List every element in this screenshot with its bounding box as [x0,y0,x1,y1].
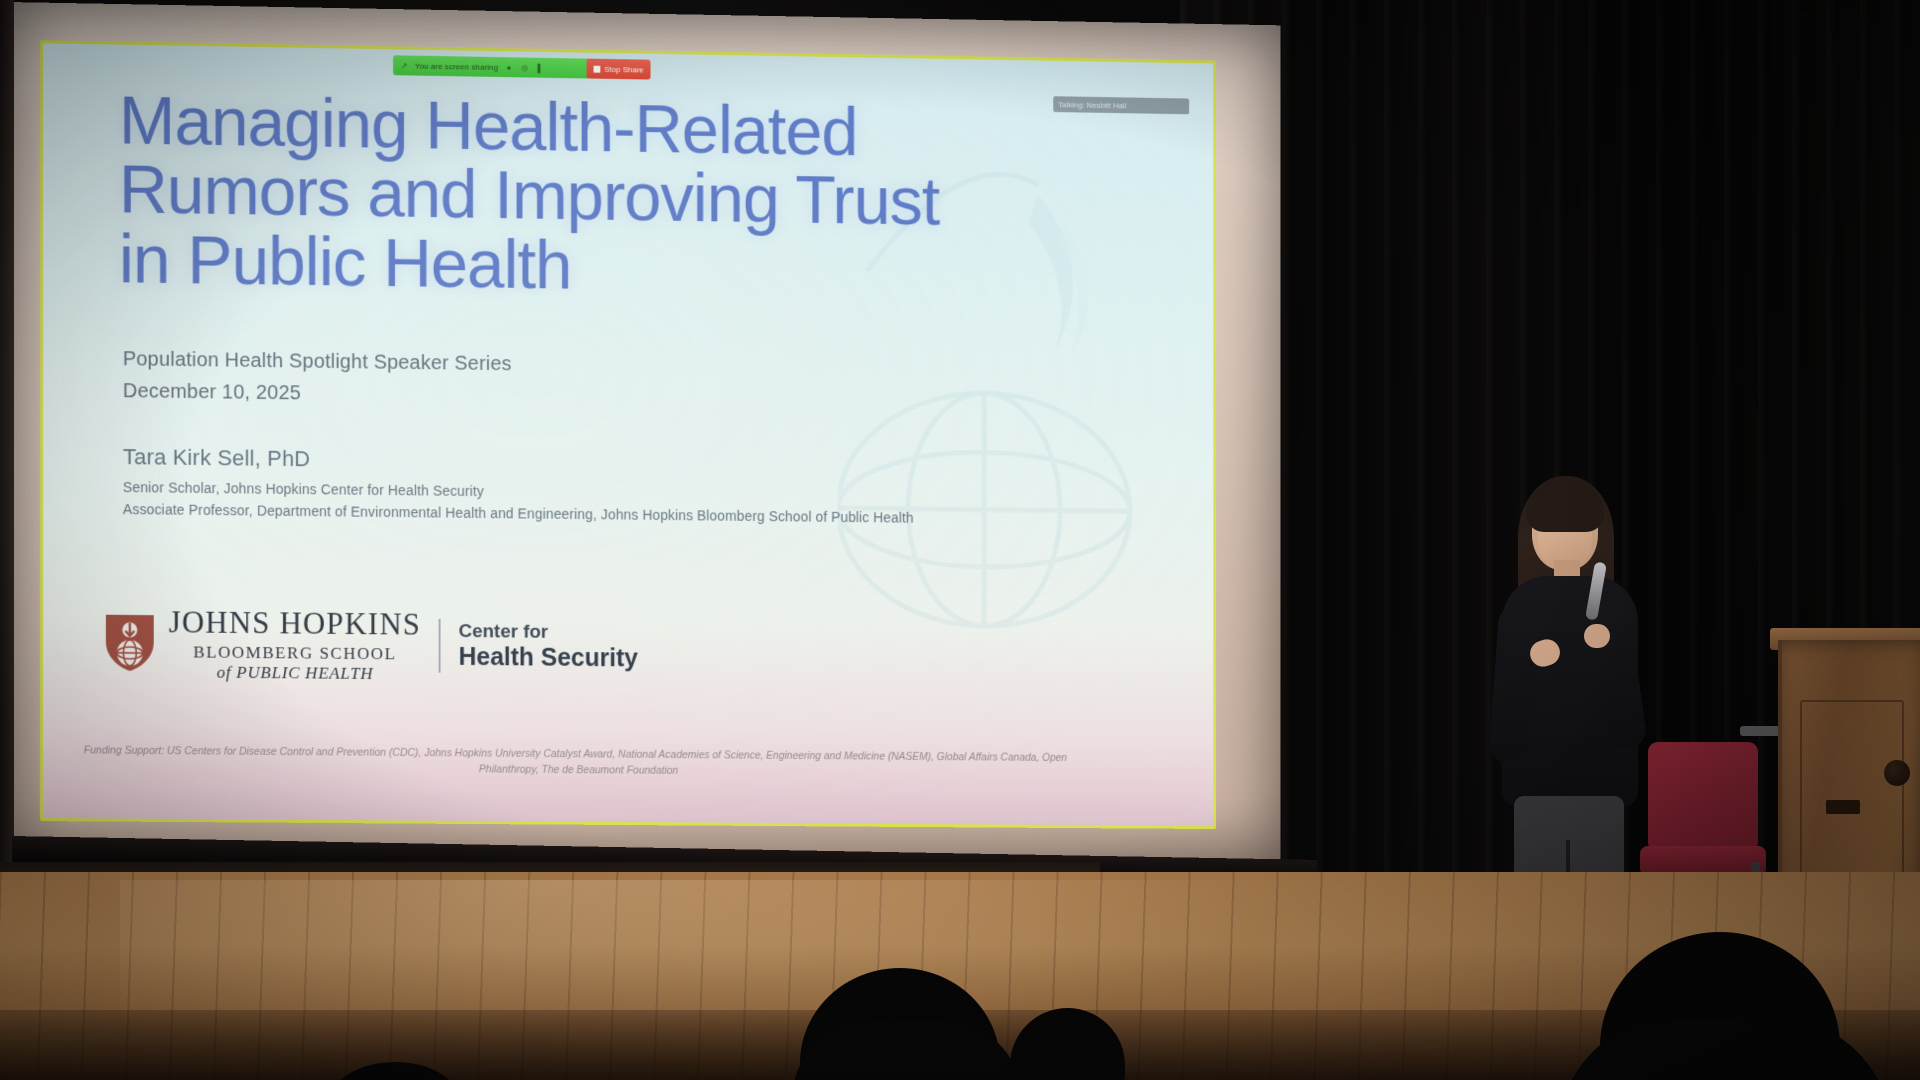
speaker-name: Tara Kirk Sell, PhD [123,444,914,479]
presenter-right-hand [1584,624,1610,648]
presenter-hair-front [1526,480,1604,532]
jhu-school-line-2: of PUBLIC HEALTH [217,663,374,684]
center-line-1: Center for [459,621,638,644]
jhu-shield-globe-icon [103,612,157,674]
slide-title: Managing Health-Related Rumors and Impro… [119,86,986,306]
jhu-logo-lockup: JOHNS HOPKINS BLOOMBERG SCHOOL of PUBLIC… [103,604,638,687]
slide-subtitle-block: Population Health Spotlight Speaker Seri… [123,344,512,413]
logo-divider [439,619,441,673]
podium-slot [1826,800,1860,814]
center-line-2: Health Security [459,643,638,672]
lecture-hall-photo: ↗ You are screen sharing ● ◎ ▌ Stop Shar… [0,0,1920,1080]
slide-canvas: ↗ You are screen sharing ● ◎ ▌ Stop Shar… [40,40,1216,829]
projection-screen: ↗ You are screen sharing ● ◎ ▌ Stop Shar… [0,0,1320,880]
speaker-block: Tara Kirk Sell, PhD Senior Scholar, John… [123,444,914,529]
chair-backrest [1648,742,1758,852]
screen-left-edge [0,0,14,880]
jhu-institution-name: JOHNS HOPKINS [169,604,421,642]
funding-note: Funding Support: US Centers for Disease … [43,743,1107,782]
date-label: December 10, 2025 [123,376,512,411]
podium-knob-icon [1884,760,1910,786]
projected-slide-area: ↗ You are screen sharing ● ◎ ▌ Stop Shar… [30,34,1191,822]
series-label: Population Health Spotlight Speaker Seri… [123,344,512,379]
jhu-school-line-1: BLOOMBERG SCHOOL [193,643,396,665]
